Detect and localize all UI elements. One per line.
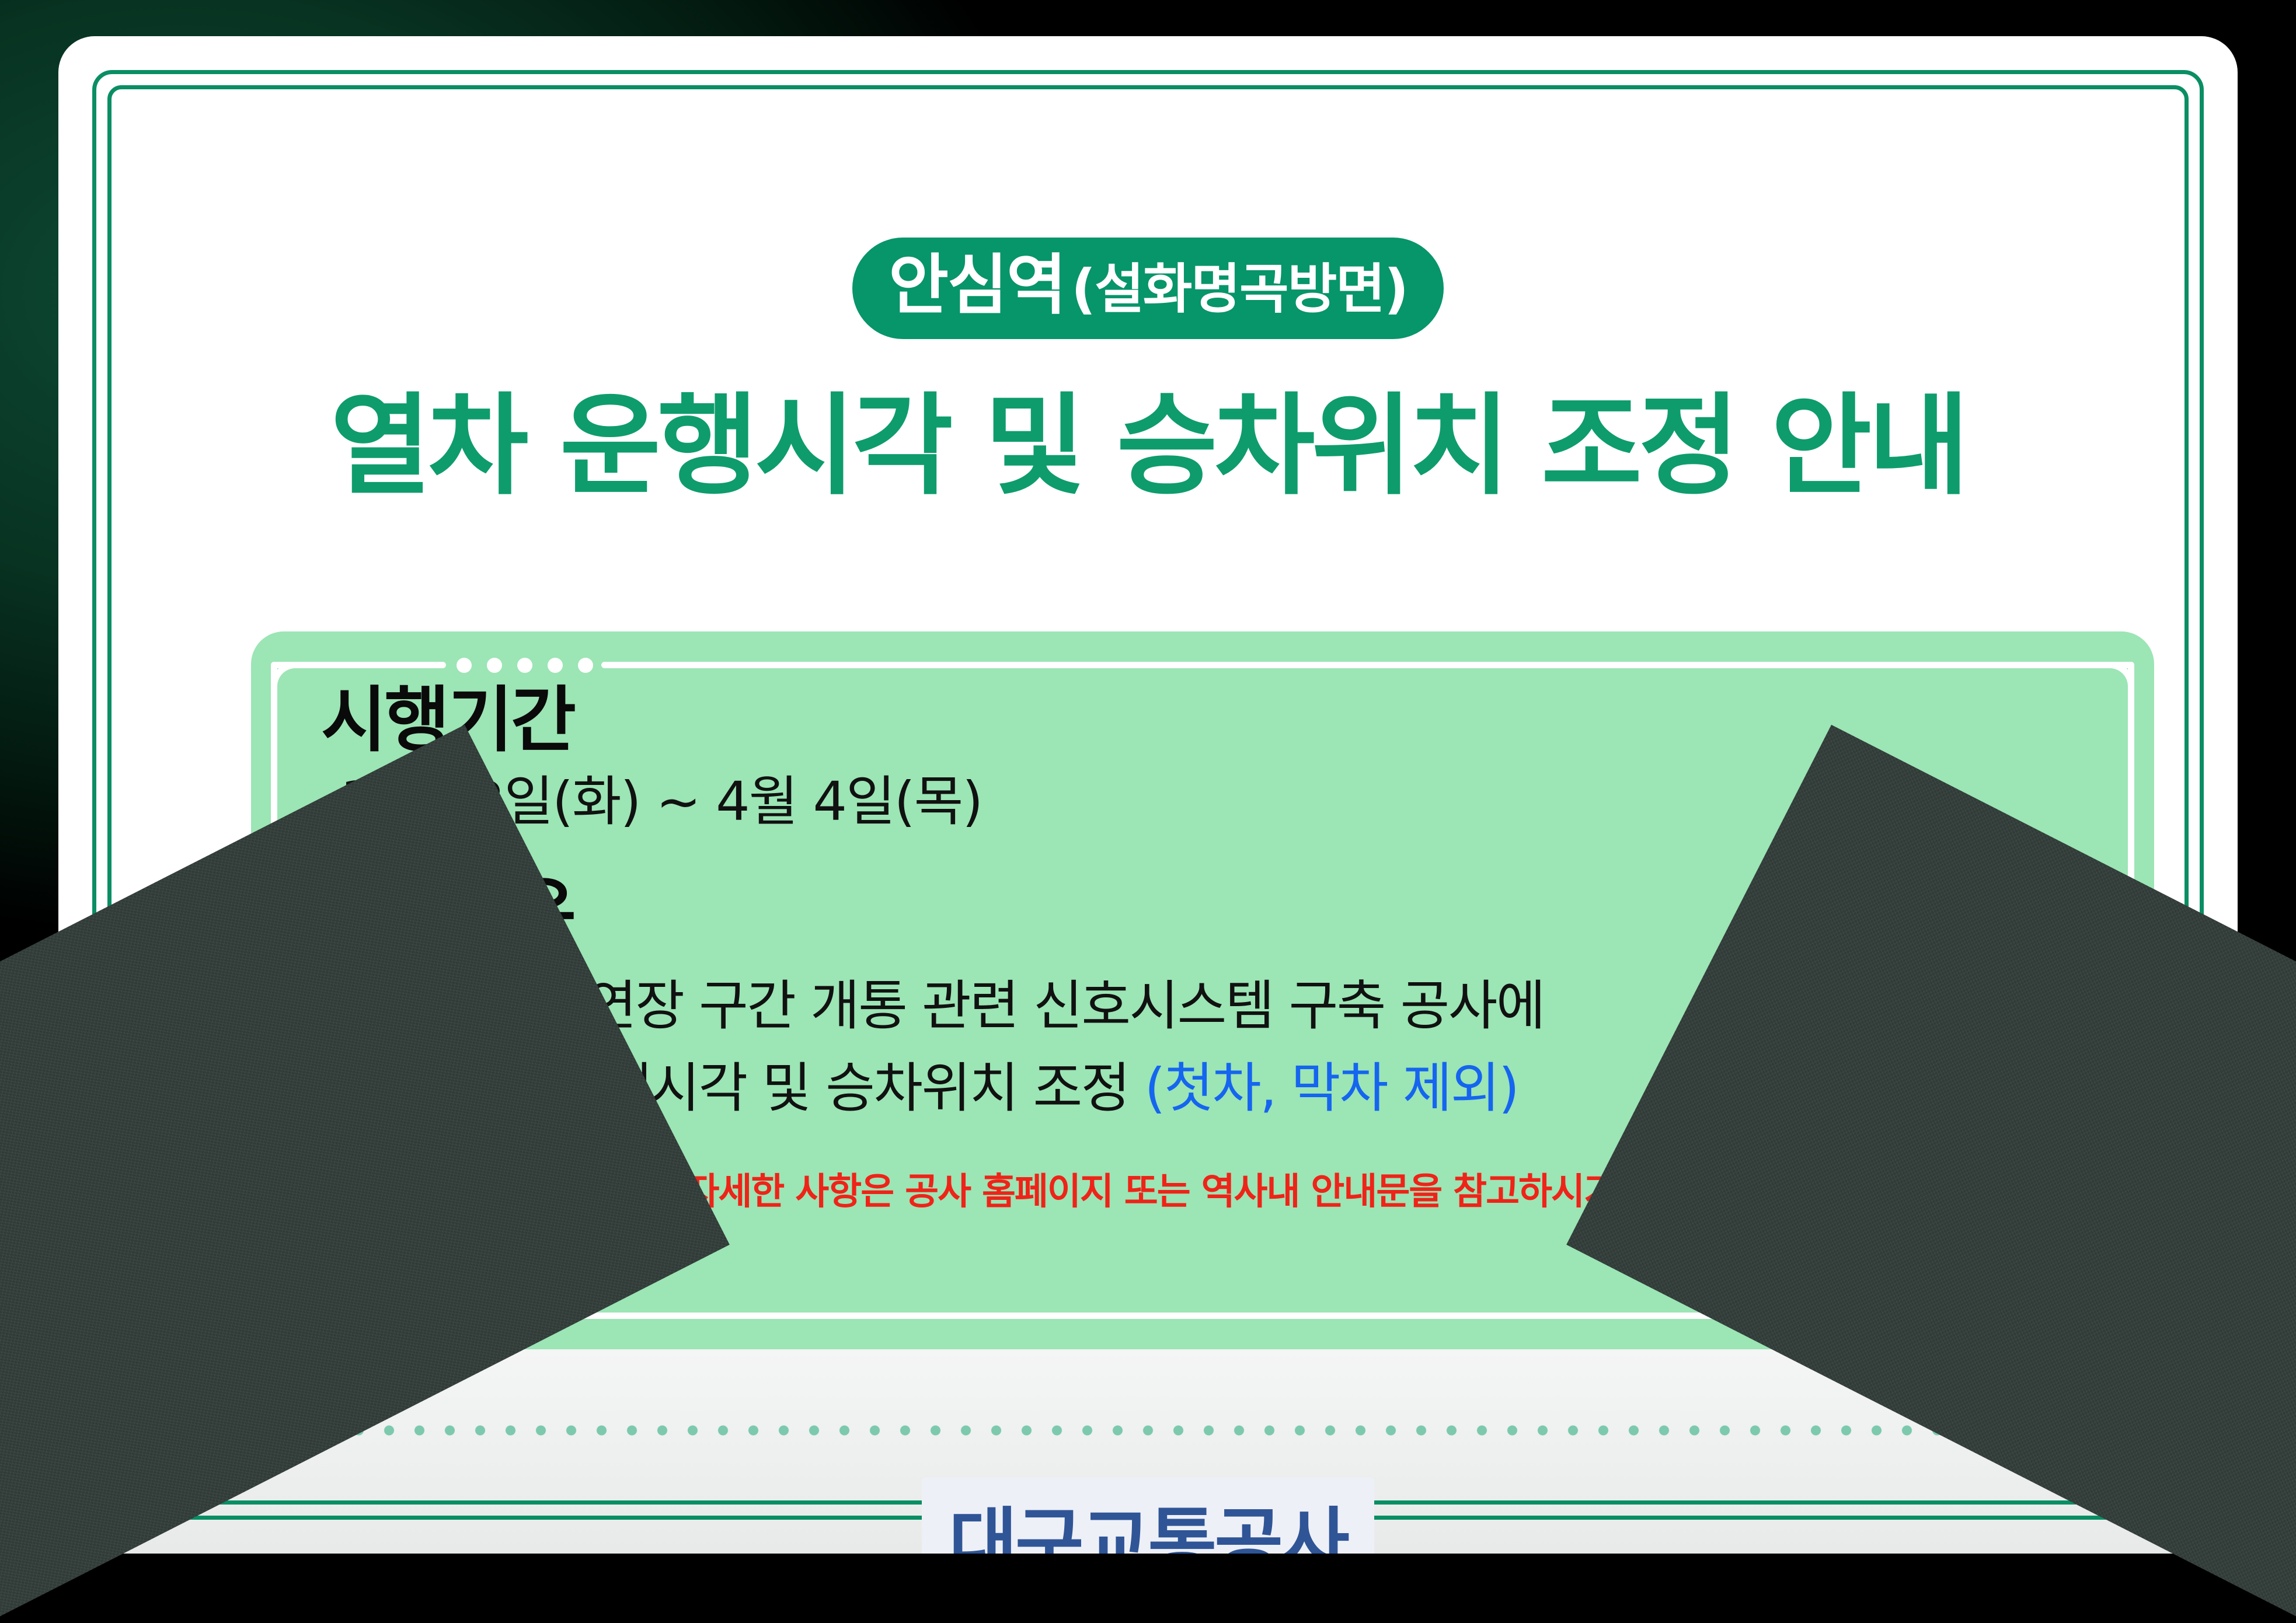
- box-dots-top: [457, 651, 593, 679]
- section-reason-exception: (첫차, 막차 제외): [1145, 1057, 1518, 1119]
- company-logo: 대구교통공사: [922, 1478, 1374, 1554]
- station-direction: (설화명곡방면): [1071, 258, 1407, 322]
- box-corner-top-left: [271, 662, 322, 713]
- dot-icon: [487, 658, 502, 673]
- footer-dotted-divider: [152, 1420, 2144, 1440]
- box-corner-top-right: [2084, 662, 2134, 713]
- dot-icon: [457, 658, 472, 673]
- poster-root: 안심역 (설화명곡방면) 열차 운행시각 및 승차위치 조정 안내: [0, 0, 2296, 1623]
- station-badge-container: 안심역 (설화명곡방면): [58, 238, 2238, 339]
- dot-icon: [517, 658, 532, 673]
- station-name: 안심역: [889, 247, 1065, 324]
- footer-logo-container: 대구교통공사: [58, 1478, 2238, 1554]
- station-badge: 안심역 (설화명곡방면): [852, 238, 1444, 339]
- dot-icon: [578, 658, 593, 673]
- dot-icon: [548, 658, 563, 673]
- page-title: 열차 운행시각 및 승차위치 조정 안내: [58, 386, 2238, 507]
- box-outline-top-right: [601, 662, 2134, 668]
